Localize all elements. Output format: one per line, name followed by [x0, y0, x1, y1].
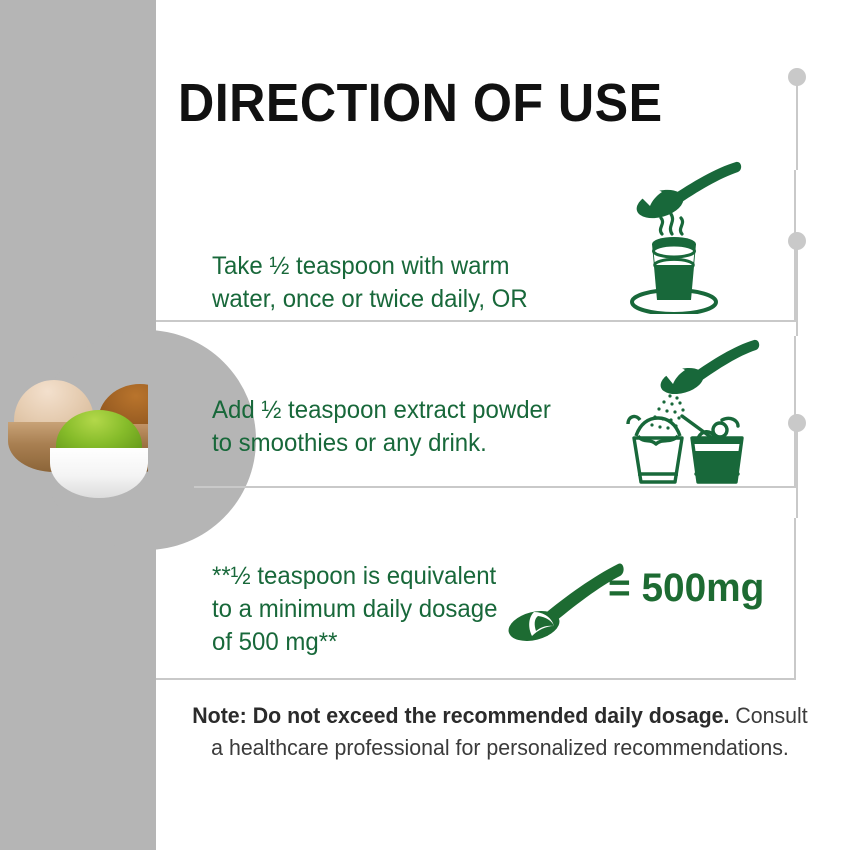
step-2-line-1: Add ½ teaspoon extract powder: [212, 394, 551, 427]
pin-dot: [788, 68, 806, 86]
footer-note: Note: Do not exceed the recommended dail…: [192, 700, 809, 764]
step-3-text: **½ teaspoon is equivalent to a minimum …: [212, 560, 497, 659]
step-3-line-3: of 500 mg**: [212, 626, 497, 659]
pin-line: [796, 244, 798, 336]
pin-dot: [788, 232, 806, 250]
spoon-pouring-powder-into-smoothies-icon: [626, 338, 766, 488]
step-row-2: Add ½ teaspoon extract powder to smoothi…: [156, 336, 796, 488]
step-row-3: **½ teaspoon is equivalent to a minimum …: [156, 518, 796, 680]
pin-dot: [788, 414, 806, 432]
step-row-1: Take ½ teaspoon with warm water, once or…: [156, 170, 796, 322]
spoon-over-steaming-glass-icon: [624, 154, 764, 314]
pin-line: [796, 426, 798, 518]
page-title: DIRECTION OF USE: [178, 72, 663, 134]
step-3-line-1: **½ teaspoon is equivalent: [212, 560, 497, 593]
footer-note-strong: Note: Do not exceed the recommended dail…: [192, 703, 729, 728]
step-2-text: Add ½ teaspoon extract powder to smoothi…: [212, 394, 551, 460]
photo-edge-mask: [148, 368, 194, 500]
content-column: DIRECTION OF USE Take ½ teaspoon with wa…: [156, 0, 850, 850]
spoon-icon: [504, 560, 624, 650]
step-1-line-2: water, once or twice daily, OR: [212, 283, 528, 316]
step-1-line-1: Take ½ teaspoon with warm: [212, 250, 528, 283]
white-ceramic-bowl: [50, 448, 148, 498]
step-3-line-2: to a minimum daily dosage: [212, 593, 497, 626]
dosage-equivalence-label: = 500mg: [608, 566, 764, 611]
step-1-text: Take ½ teaspoon with warm water, once or…: [212, 250, 528, 316]
pin-line: [796, 80, 798, 170]
step-2-line-2: to smoothies or any drink.: [212, 427, 551, 460]
product-photo-bowls: [0, 368, 190, 500]
